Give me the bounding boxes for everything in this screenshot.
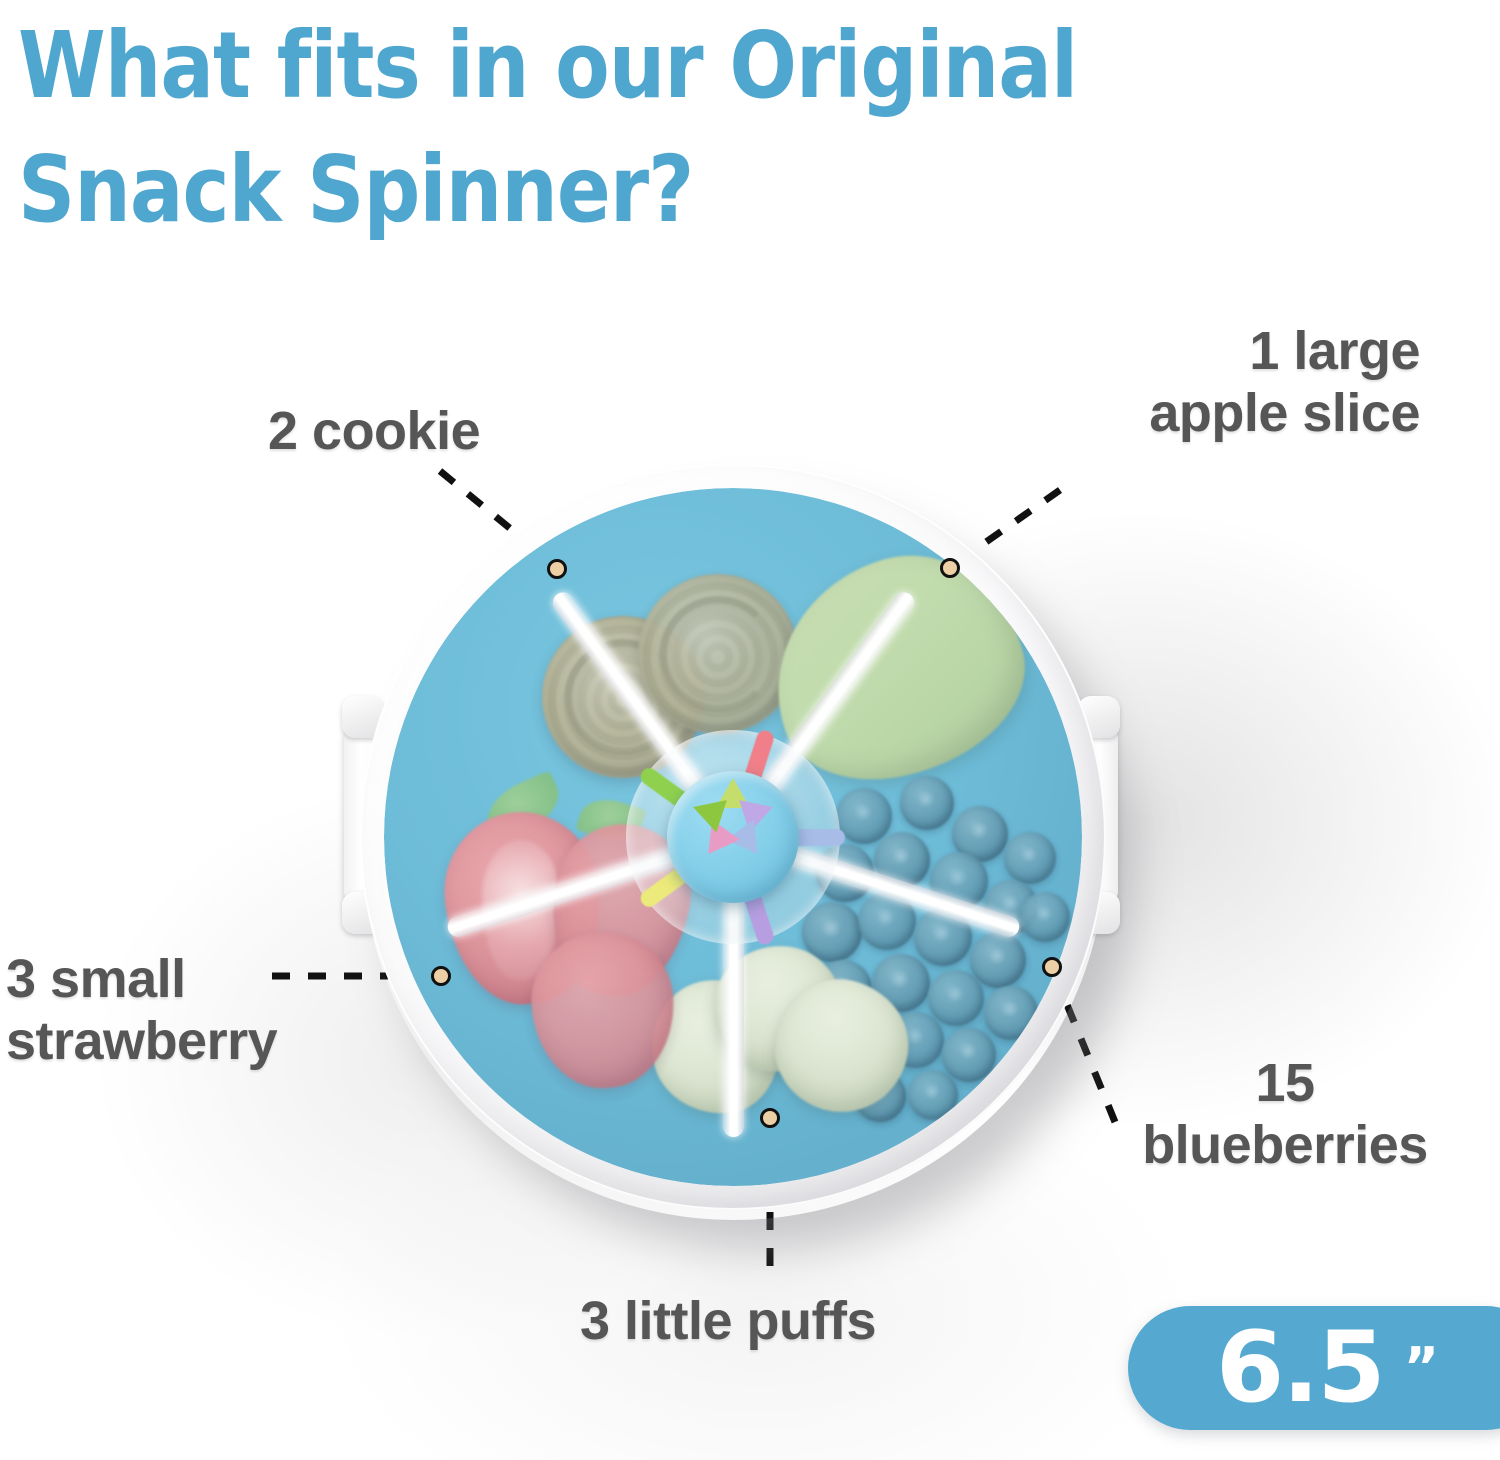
marker-dot-blueberries <box>1042 957 1062 977</box>
marker-dot-apple <box>940 558 960 578</box>
callout-label-cookie: 2 cookie <box>268 400 480 462</box>
callout-strawberry-line-1: 3 small <box>6 948 277 1010</box>
callout-cookie-line-1: 2 cookie <box>268 400 480 462</box>
callout-label-apple: 1 large apple slice <box>1000 320 1420 444</box>
marker-dot-cookie <box>547 559 567 579</box>
center-hub[interactable] <box>667 771 799 903</box>
marker-dot-puffs <box>760 1108 780 1128</box>
callout-blueberries-line-1: 15 <box>1075 1052 1495 1114</box>
size-badge: 6.5 ” <box>1128 1306 1500 1430</box>
page-title-line-1: What fits in our Original <box>18 4 1420 128</box>
callout-blueberries-line-2: blueberries <box>1075 1114 1495 1176</box>
infographic-canvas: What fits in our Original Snack Spinner? <box>0 0 1500 1460</box>
snack-spinner-product <box>338 442 1128 1232</box>
callout-strawberry-line-2: strawberry <box>6 1010 277 1072</box>
callout-label-strawberry: 3 small strawberry <box>6 948 277 1072</box>
callout-apple-line-2: apple slice <box>1000 382 1420 444</box>
callout-puffs-line-1: 3 little puffs <box>580 1290 876 1352</box>
page-title-line-2: Snack Spinner? <box>18 128 1420 252</box>
product-lid <box>384 488 1082 1186</box>
marker-dot-strawberry <box>431 966 451 986</box>
page-title: What fits in our Original Snack Spinner? <box>18 4 1420 252</box>
size-badge-value: 6.5 <box>1216 1319 1384 1417</box>
callout-label-blueberries: 15 blueberries <box>1075 1052 1495 1176</box>
callout-apple-line-1: 1 large <box>1000 320 1420 382</box>
callout-label-puffs: 3 little puffs <box>580 1290 876 1352</box>
size-badge-unit: ” <box>1404 1341 1440 1395</box>
